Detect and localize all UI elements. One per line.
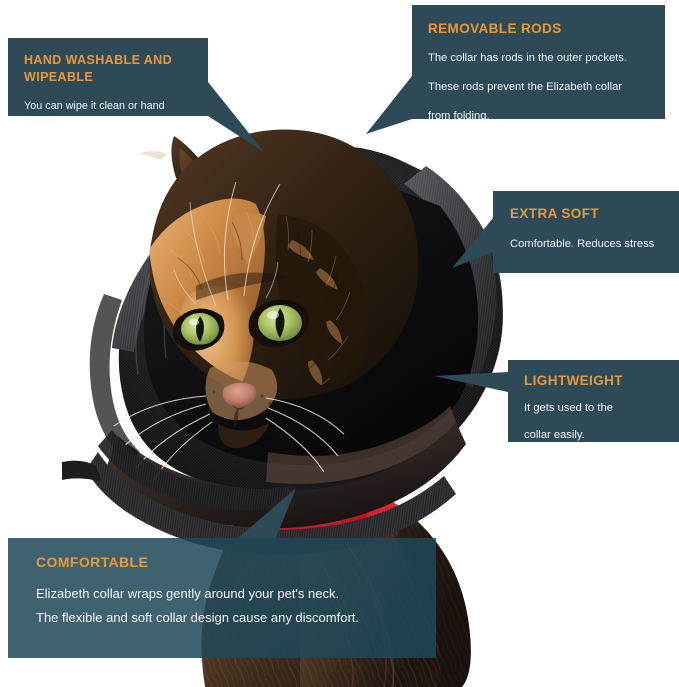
callout-body-line: from folding. xyxy=(428,109,651,125)
callout-extra-soft: EXTRA SOFT Comfortable. Reduces stress xyxy=(493,191,679,273)
callout-title: REMOVABLE RODS xyxy=(428,20,651,38)
callout-title: LIGHTWEIGHT xyxy=(524,372,679,390)
callout-hand-washable: HAND WASHABLE AND WIPEABLE You can wipe … xyxy=(8,38,208,116)
callout-title: EXTRA SOFT xyxy=(510,205,679,223)
callout-removable-rods: REMOVABLE RODS The collar has rods in th… xyxy=(412,5,665,119)
callout-body-line: It gets used to the xyxy=(524,401,679,417)
callout-body-line: You can wipe it clean or hand wash it xyxy=(24,99,192,130)
callout-body-line: These rods prevent the Elizabeth collar xyxy=(428,80,651,96)
callout-body-line: Elizabeth collar wraps gently around you… xyxy=(36,585,436,603)
callout-title: COMFORTABLE xyxy=(36,553,436,571)
callout-comfortable: COMFORTABLE Elizabeth collar wraps gentl… xyxy=(8,538,436,658)
callout-lightweight: LIGHTWEIGHT It gets used to the collar e… xyxy=(508,360,679,442)
callout-body-line: Comfortable. Reduces stress xyxy=(510,237,679,253)
callout-body-line: The collar has rods in the outer pockets… xyxy=(428,51,651,67)
callout-title: HAND WASHABLE AND WIPEABLE xyxy=(24,52,192,85)
callout-body-line: The flexible and soft collar design caus… xyxy=(36,609,436,627)
callout-body-line: collar easily. xyxy=(524,428,679,444)
infographic-canvas: HAND WASHABLE AND WIPEABLE You can wipe … xyxy=(0,0,679,687)
